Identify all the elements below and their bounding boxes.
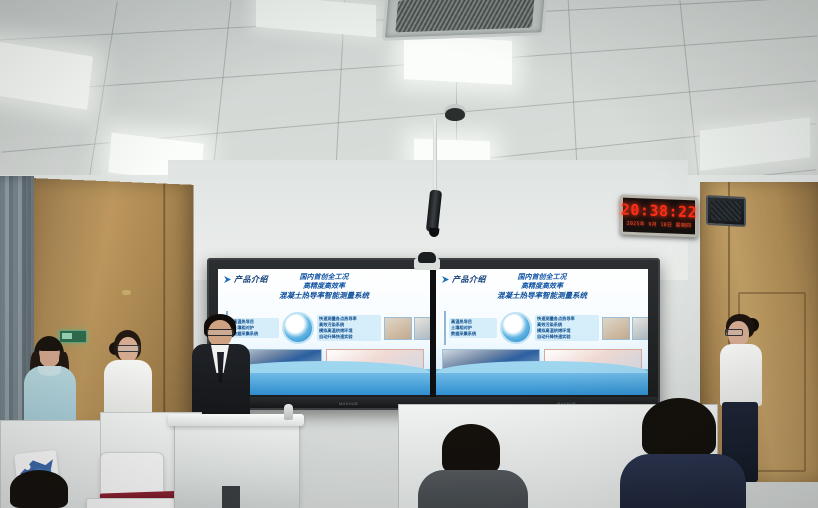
slide-title-line2: 高精度高效率 [279, 282, 369, 291]
ceiling-light-panel [256, 0, 376, 37]
bullet-arrow-icon [442, 276, 449, 283]
slide-middle-row: 高温热导目 土壤相对护 数据采集系统 产品优势 快速测量各点热导率 高效污染系统… [444, 311, 640, 345]
slide-title: 国内首创全工况 高精度高效率 混凝土热导率智能测量系统 [497, 273, 587, 300]
left-bullet-list: 高温热导目 土壤相对护 数据采集系统 [449, 318, 497, 338]
slide-header-label: 产品介绍 [452, 274, 486, 285]
right-screen[interactable]: 产品介绍 国内首创全工况 高精度高效率 混凝土热导率智能测量系统 高温热导目 土… [436, 269, 648, 395]
right-photo-group [384, 317, 430, 340]
ceiling-light-panel [404, 35, 512, 85]
slide-bottom-band [436, 369, 648, 395]
bullet-item: 自动升降快速实验 [319, 334, 379, 340]
slide-header: 产品介绍 [442, 274, 486, 285]
right-bullet-list: 快速测量各点热导率 高效污染系统 模拟高温烘烤环境 自动升降快速实验 [317, 315, 381, 341]
bezel-brand-left: MAXHUB [339, 401, 358, 406]
chair-seat[interactable] [86, 498, 180, 508]
slide-title-line3: 混凝土热导率智能测量系统 [497, 291, 587, 300]
slide-title-line2: 高精度高效率 [497, 282, 587, 291]
product-photo [384, 317, 412, 340]
presentation-slide: 产品介绍 国内首创全工况 高精度高效率 混凝土热导率智能测量系统 高温热导目 土… [436, 269, 648, 395]
glasses-icon [207, 329, 234, 336]
podium-microphone-icon [284, 404, 293, 420]
bullet-item: 数据采集系统 [451, 331, 495, 337]
slide-title: 国内首创全工况 高精度高效率 混凝土热导率智能测量系统 [279, 273, 369, 300]
person-audience-grey [418, 424, 528, 508]
wall-speaker [706, 195, 746, 227]
bullet-arrow-icon [224, 276, 231, 283]
classroom-presentation-scene: 20:38:22 2025年 9月 18日 星期四 产品介绍 国内首创全工况 高… [0, 0, 818, 508]
equipment-photo [444, 311, 446, 345]
slide-header-label: 产品介绍 [234, 274, 268, 285]
slide-title-line3: 混凝土热导率智能测量系统 [279, 291, 369, 300]
product-photo [602, 317, 630, 340]
ceiling-light-panel [0, 40, 93, 110]
slide-title-line1: 国内首创全工况 [497, 273, 587, 282]
center-badge-icon: 产品优势 [282, 312, 314, 344]
display-top-camera-icon [418, 252, 436, 263]
slide-header: 产品介绍 [224, 274, 268, 285]
right-bullet-list: 快速测量各点热导率 高效污染系统 模拟高温烘烤环境 自动升降快速实验 [535, 315, 599, 341]
ceiling-dome-camera-icon [445, 108, 465, 121]
bullet-item: 自动升降快速实验 [537, 334, 597, 340]
led-wall-clock: 20:38:22 2025年 9月 18日 星期四 [620, 195, 698, 238]
glasses-icon [725, 329, 743, 336]
person-audience-foreground [0, 470, 90, 508]
ceiling-air-vent [382, 0, 549, 41]
podium-leg [222, 486, 240, 508]
slide-title-line1: 国内首创全工况 [279, 273, 369, 282]
door-handle[interactable] [122, 290, 131, 295]
microphone-pole [433, 118, 437, 196]
product-photo [632, 317, 648, 340]
ceiling-light-panel [700, 117, 810, 171]
slide-middle-row: 高温热导目 土壤相对护 数据采集系统 产品优势 快速测量各点热导率 高效污染系统… [226, 311, 422, 345]
glasses-icon [117, 345, 140, 352]
product-photo [414, 317, 430, 340]
person-audience-navy [620, 398, 746, 508]
clock-date: 2025年 9月 18日 星期四 [627, 220, 692, 229]
clock-time: 20:38:22 [621, 203, 697, 221]
dual-screen-display[interactable]: 产品介绍 国内首创全工况 高精度高效率 混凝土热导率智能测量系统 高温热导目 土… [207, 258, 660, 410]
center-badge-icon: 产品优势 [500, 312, 532, 344]
right-photo-group [602, 317, 648, 340]
